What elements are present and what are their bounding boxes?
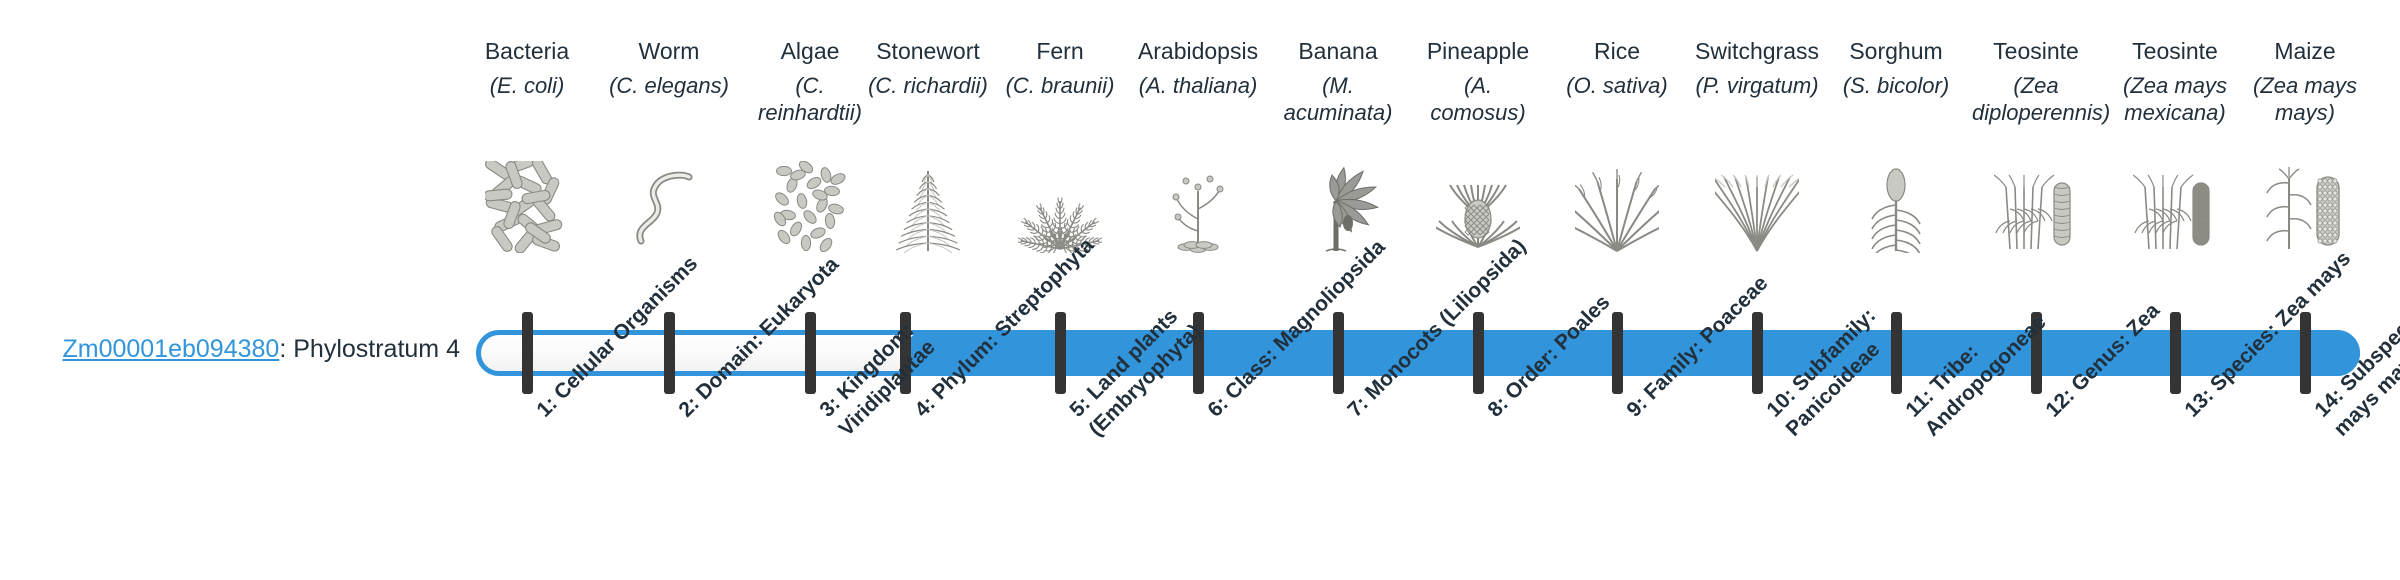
- species-scientific-name: (Zea diploperennis): [1972, 72, 2100, 128]
- species-scientific-name: (C. elegans): [605, 72, 733, 128]
- species-column-7: Banana(M. acuminata): [1274, 36, 1402, 128]
- phylostratum-tick-10[interactable]: [1752, 312, 1763, 394]
- phylostratum-label-5[interactable]: 5: Land plants (Embryophyta): [1064, 227, 1279, 442]
- species-common-name: Rice: [1553, 36, 1681, 66]
- phylostratum-rank: Subfamily: Panicoideae: [1782, 304, 1885, 441]
- phylostratum-rank: Monocots (Liliopsida): [1361, 235, 1531, 405]
- species-column-6: Arabidopsis(A. thaliana): [1134, 36, 1262, 128]
- phylostratum-tick-2[interactable]: [664, 312, 675, 394]
- phylostratum-rank: Genus: Zea: [2067, 299, 2164, 396]
- phylostratum-tick-14[interactable]: [2300, 312, 2311, 394]
- gene-phylostratum-label: Zm00001eb094380: Phylostratum 4: [40, 334, 460, 364]
- species-column-4: Stonewort(C. richardii): [864, 36, 992, 128]
- species-scientific-name: (C. braunii): [996, 72, 1124, 128]
- species-common-name: Bacteria: [463, 36, 591, 66]
- species-common-name: Stonewort: [864, 36, 992, 66]
- phylostratum-tick-3[interactable]: [805, 312, 816, 394]
- species-column-11: Sorghum(S. bicolor): [1832, 36, 1960, 128]
- species-column-5: Fern(C. braunii): [996, 36, 1124, 128]
- species-column-12: Teosinte(Zea diploperennis): [1972, 36, 2100, 128]
- phylostratum-value: Phylostratum 4: [293, 335, 460, 363]
- stonewort-icon: [864, 163, 992, 253]
- species-column-14: Maize(Zea mays mays): [2241, 36, 2369, 128]
- phylostratum-rank: Kingdom: Viridiplantae: [833, 319, 940, 441]
- species-scientific-name: (A. thaliana): [1134, 72, 1262, 128]
- phylostratum-rank: Tribe: Andropogoneae: [1921, 311, 2051, 441]
- phylostratum-tick-5[interactable]: [1055, 312, 1066, 394]
- phylostratum-rank: Domain: Eukaryota: [692, 253, 844, 405]
- species-common-name: Algae: [746, 36, 874, 66]
- species-column-9: Rice(O. sativa): [1553, 36, 1681, 128]
- species-common-name: Arabidopsis: [1134, 36, 1262, 66]
- species-common-name: Sorghum: [1832, 36, 1960, 66]
- species-scientific-name: (Zea mays mexicana): [2111, 72, 2239, 128]
- species-scientific-name: (C. reinhardtii): [746, 72, 874, 128]
- phylostratum-rank: Species: Zea mays: [2206, 247, 2355, 396]
- phylostratum-rank: Family: Poaceae: [1640, 272, 1773, 405]
- species-column-8: Pineapple(A. comosus): [1414, 36, 1542, 128]
- phylostratum-tick-1[interactable]: [522, 312, 533, 394]
- species-scientific-name: (C. richardii): [864, 72, 992, 128]
- species-common-name: Fern: [996, 36, 1124, 66]
- fern-icon: [996, 163, 1124, 253]
- species-common-name: Pineapple: [1414, 36, 1542, 66]
- species-common-name: Maize: [2241, 36, 2369, 66]
- gene-label-separator: :: [279, 335, 293, 363]
- phylostratum-tick-7[interactable]: [1333, 312, 1344, 394]
- species-column-13: Teosinte(Zea mays mexicana): [2111, 36, 2239, 128]
- species-scientific-name: (O. sativa): [1553, 72, 1681, 128]
- phylostratum-tick-9[interactable]: [1612, 312, 1623, 394]
- species-scientific-name: (E. coli): [463, 72, 591, 128]
- species-scientific-name: (M. acuminata): [1274, 72, 1402, 128]
- phylostratum-rank: Cellular Organisms: [550, 252, 702, 404]
- phylostratum-number: 12:: [2041, 384, 2079, 422]
- species-scientific-name: (S. bicolor): [1832, 72, 1960, 128]
- species-scientific-name: (P. virgatum): [1693, 72, 1821, 128]
- species-common-name: Worm: [605, 36, 733, 66]
- phylostratum-rank: Land plants (Embryophyta): [1083, 305, 1206, 441]
- species-scientific-name: (A. comosus): [1414, 72, 1542, 128]
- phylostratum-rank: Subspecies: Zea mays mays: [2330, 263, 2400, 441]
- species-common-name: Banana: [1274, 36, 1402, 66]
- species-scientific-name: (Zea mays mays): [2241, 72, 2369, 128]
- phylostratum-tick-13[interactable]: [2170, 312, 2181, 394]
- bacteria-icon: [463, 163, 591, 253]
- species-common-name: Switchgrass: [1693, 36, 1821, 66]
- species-common-name: Teosinte: [2111, 36, 2239, 66]
- species-column-1: Bacteria(E. coli): [463, 36, 591, 128]
- species-column-10: Switchgrass(P. virgatum): [1693, 36, 1821, 128]
- species-column-3: Algae(C. reinhardtii): [746, 36, 874, 128]
- phylostratum-timeline: Zm00001eb094380: Phylostratum 4 Bacteria…: [0, 0, 2400, 580]
- phylostratum-rank: Order: Poales: [1501, 291, 1615, 405]
- phylostratum-tick-8[interactable]: [1473, 312, 1484, 394]
- species-common-name: Teosinte: [1972, 36, 2100, 66]
- gene-id-link[interactable]: Zm00001eb094380: [62, 335, 279, 363]
- species-column-2: Worm(C. elegans): [605, 36, 733, 128]
- phylostratum-number: 13:: [2180, 384, 2218, 422]
